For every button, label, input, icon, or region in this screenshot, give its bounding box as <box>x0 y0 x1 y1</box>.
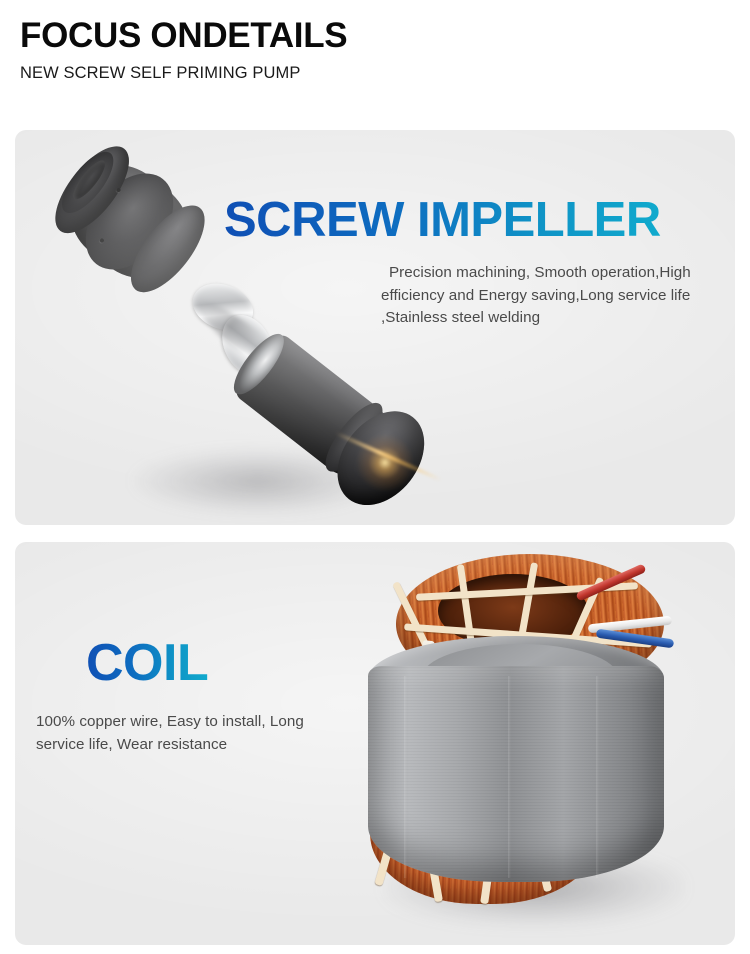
core-facet-edge <box>596 676 599 878</box>
card-description-coil: 100% copper wire, Easy to install, Long … <box>36 711 356 756</box>
core-facet-edge <box>508 676 511 878</box>
card-description-screw-impeller: Precision machining, Smooth operation,Hi… <box>381 262 729 330</box>
description-line: Precision machining, Smooth operation,Hi… <box>381 262 729 285</box>
page-header: FOCUS ONDETAILS NEW SCREW SELF PRIMING P… <box>20 16 730 84</box>
card-heading-screw-impeller: SCREW IMPELLER <box>224 196 661 245</box>
core-facet-edge <box>404 676 407 878</box>
description-line: ,Stainless steel welding <box>381 307 729 330</box>
page-subtitle: NEW SCREW SELF PRIMING PUMP <box>20 62 730 84</box>
card-heading-coil: COIL <box>86 637 208 689</box>
description-line: efficiency and Energy saving,Long servic… <box>381 285 729 308</box>
page-title: FOCUS ONDETAILS <box>20 16 730 56</box>
description-line: service life, Wear resistance <box>36 734 356 757</box>
description-line: 100% copper wire, Easy to install, Long <box>36 711 356 734</box>
coil-stator-image <box>360 548 735 940</box>
laminated-steel-core <box>368 666 664 882</box>
